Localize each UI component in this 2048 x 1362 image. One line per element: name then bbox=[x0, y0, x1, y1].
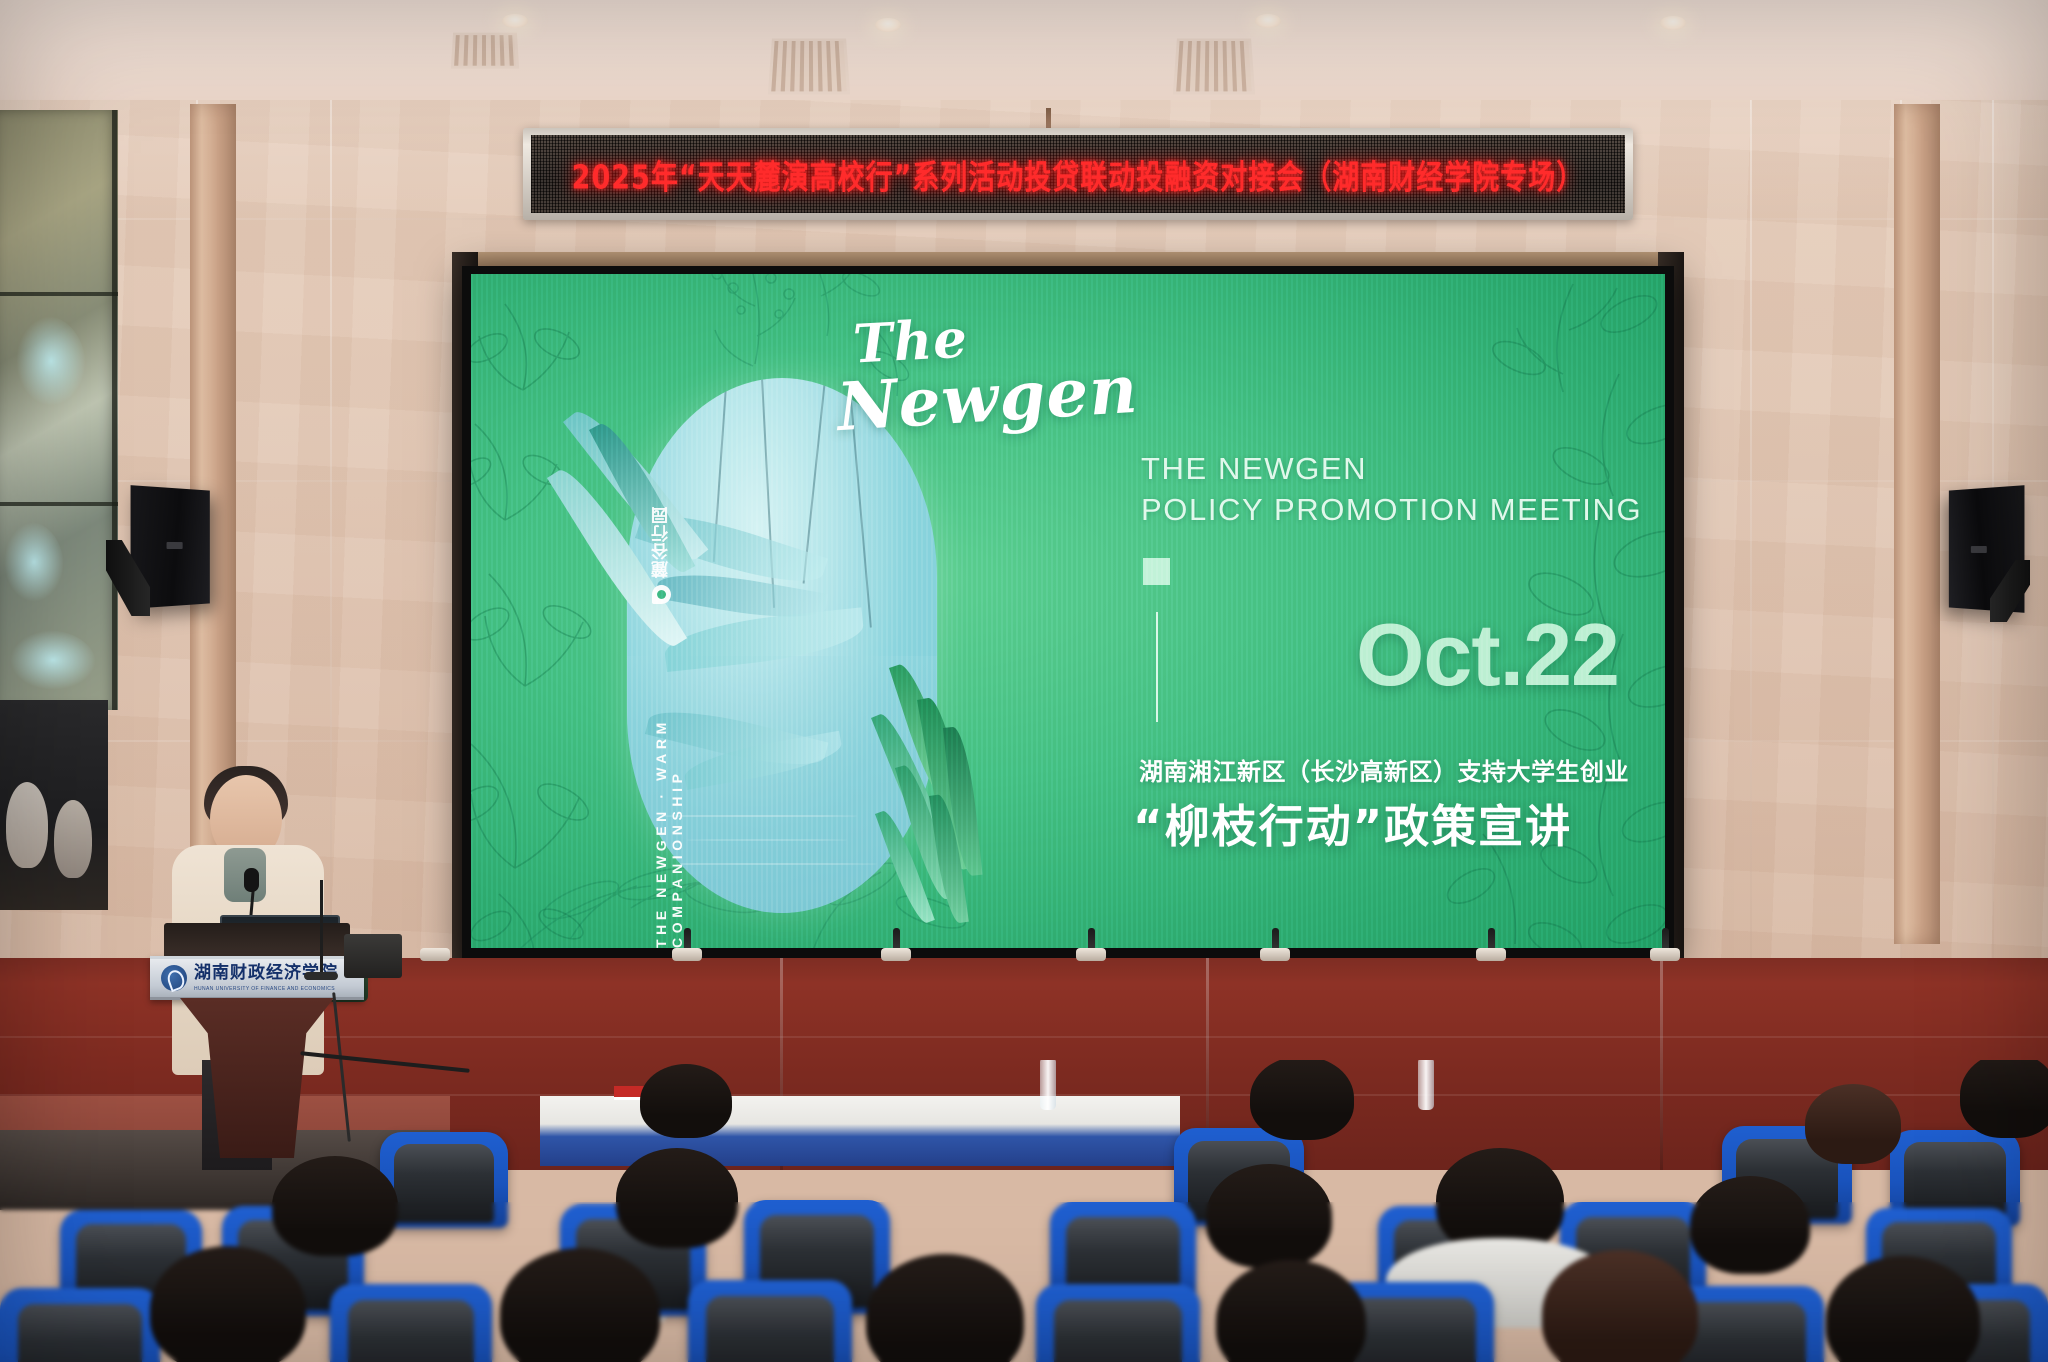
podium-plate-english: HUNAN UNIVERSITY OF FINANCE AND ECONOMIC… bbox=[194, 986, 338, 992]
background-person bbox=[6, 782, 48, 868]
university-logo-icon bbox=[161, 965, 187, 991]
floor-microphone-base bbox=[304, 972, 338, 980]
background-person bbox=[54, 800, 92, 878]
audience-seat[interactable] bbox=[330, 1284, 492, 1362]
glass-mullion bbox=[0, 502, 118, 506]
brand-flame-icon bbox=[652, 585, 671, 604]
speaker-badge-icon bbox=[1971, 546, 1987, 553]
wall-seam bbox=[1750, 100, 1752, 1100]
audience-seating-area bbox=[0, 1060, 2048, 1362]
ceiling-light-icon bbox=[875, 18, 901, 32]
front-row-table bbox=[540, 1096, 1180, 1166]
square-accent-mark bbox=[1143, 558, 1170, 585]
led-banner-frame: 2025年“天天麓演高校行”系列活动投贷联动投融资对接会（湖南财经学院专场） bbox=[523, 128, 1633, 220]
water-ripple bbox=[657, 815, 857, 817]
glass-reflection bbox=[10, 630, 96, 690]
seat-cushion bbox=[1348, 1298, 1476, 1362]
microphone-icon bbox=[244, 868, 259, 892]
poster-chinese-title: “柳枝行动”政策宣讲 bbox=[1133, 790, 1572, 855]
vertical-rule-divider bbox=[1156, 612, 1158, 722]
poster-chinese-subtitle: 湖南湘江新区（长沙高新区）支持大学生创业 bbox=[1139, 752, 1629, 787]
seat-cushion bbox=[706, 1296, 834, 1362]
poster-script-logo: The Newgen bbox=[843, 314, 1103, 429]
speaker-badge-icon bbox=[167, 542, 183, 549]
water-bottle bbox=[1418, 1060, 1434, 1110]
water-ripple bbox=[687, 839, 847, 841]
led-banner-screen: 2025年“天天麓演高校行”系列活动投贷联动投融资对接会（湖南财经学院专场） bbox=[531, 135, 1625, 213]
ceiling-light-icon bbox=[1255, 14, 1281, 28]
audience-head bbox=[1805, 1084, 1901, 1164]
ceiling-light-icon bbox=[502, 14, 528, 28]
water-bottle bbox=[1040, 1060, 1056, 1110]
audience-seat[interactable] bbox=[380, 1132, 508, 1228]
audience-seat[interactable] bbox=[688, 1280, 852, 1362]
footlight-icon bbox=[672, 948, 702, 961]
ceiling-vent-icon bbox=[451, 33, 519, 69]
seat-cushion bbox=[1054, 1300, 1182, 1362]
footlight-icon bbox=[881, 948, 911, 961]
poster-date: Oct.22 bbox=[1356, 604, 1619, 706]
glass-reflection bbox=[16, 316, 86, 406]
audience-head bbox=[1250, 1060, 1354, 1140]
poster-vertical-tagline: THE NEWGEN · WARM COMPANIONSHIP bbox=[653, 624, 685, 948]
footlight-icon bbox=[1260, 948, 1290, 961]
glass-reflection bbox=[4, 522, 64, 602]
floor-microphone-stand bbox=[320, 880, 323, 976]
glass-mullion bbox=[112, 110, 117, 710]
brand-name-text: 麓谷行园 bbox=[649, 506, 674, 578]
left-glass-wall bbox=[0, 110, 118, 710]
poster-brand-lockup: 麓谷行园 bbox=[649, 506, 674, 604]
script-logo-line2: Newgen bbox=[835, 361, 1104, 438]
glass-mullion bbox=[0, 292, 118, 296]
wall-pilaster bbox=[1894, 104, 1940, 944]
poster-text-column: THE NEWGEN POLICY PROMOTION MEETING Oct.… bbox=[1111, 274, 1665, 948]
seat-cushion bbox=[394, 1144, 494, 1223]
ceiling-vent-icon bbox=[1173, 39, 1255, 95]
led-banner-text: 2025年“天天麓演高校行”系列活动投贷联动投融资对接会（湖南财经学院专场） bbox=[572, 150, 1585, 198]
presentation-poster: The Newgen 麓谷行园 THE NEWGEN · WARM COMPAN… bbox=[471, 274, 1665, 948]
footlight-icon bbox=[1476, 948, 1506, 961]
audience-seat[interactable] bbox=[0, 1288, 160, 1362]
seat-cushion bbox=[348, 1300, 474, 1362]
english-title-line1: THE NEWGEN bbox=[1141, 449, 1642, 490]
footlight-icon bbox=[420, 948, 450, 961]
audience-head bbox=[150, 1246, 306, 1362]
audience-head bbox=[640, 1064, 732, 1138]
audience-seat[interactable] bbox=[1036, 1284, 1200, 1362]
audience-head bbox=[616, 1148, 738, 1248]
poster-english-title: THE NEWGEN POLICY PROMOTION MEETING bbox=[1141, 449, 1642, 531]
floor-equipment-box bbox=[344, 934, 402, 978]
audience-head bbox=[272, 1156, 398, 1256]
english-title-line2: POLICY PROMOTION MEETING bbox=[1141, 490, 1642, 531]
footlight-icon bbox=[1076, 948, 1106, 961]
footlight-icon bbox=[1650, 948, 1680, 961]
audience-head bbox=[1216, 1260, 1366, 1362]
audience-head bbox=[1206, 1164, 1332, 1268]
auditorium-photo-scene: 2025年“天天麓演高校行”系列活动投贷联动投融资对接会（湖南财经学院专场） bbox=[0, 0, 2048, 1362]
ceiling-light-icon bbox=[1660, 16, 1686, 30]
audience-head bbox=[1960, 1060, 2048, 1138]
ceiling-vent-icon bbox=[768, 39, 850, 95]
audience-head bbox=[1690, 1176, 1810, 1274]
led-display-screen[interactable]: The Newgen 麓谷行园 THE NEWGEN · WARM COMPAN… bbox=[462, 266, 1674, 958]
seat-cushion bbox=[18, 1304, 143, 1362]
